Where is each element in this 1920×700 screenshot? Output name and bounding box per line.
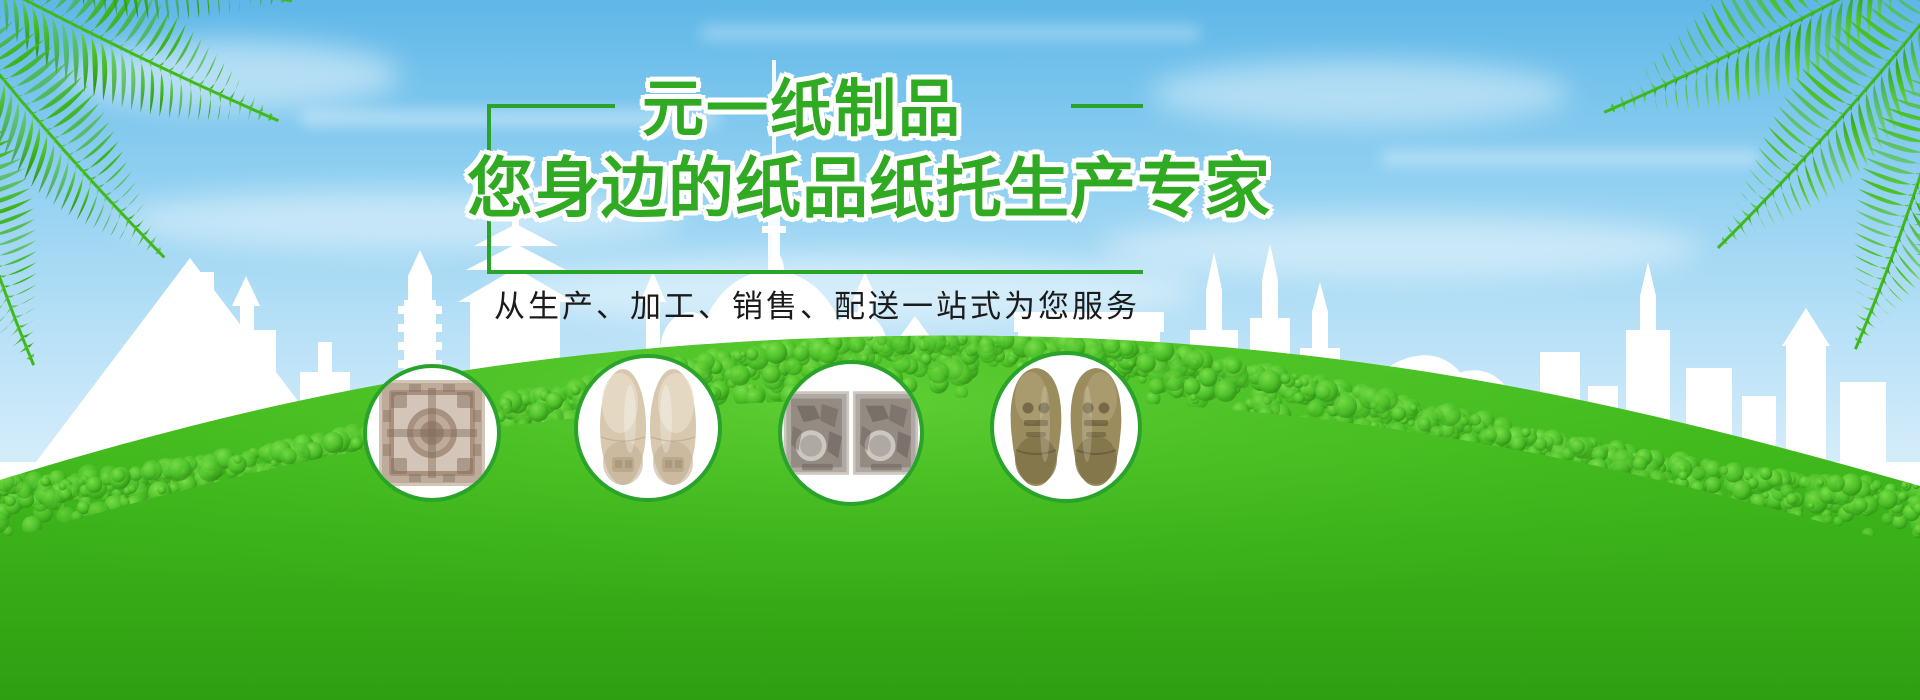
product-circle-square-tray[interactable]: [363, 364, 501, 502]
product-circle-double-cavity-tray[interactable]: [778, 360, 924, 506]
promotional-banner: 元一纸制品 您身边的纸品纸托生产专家 从生产、加工、销售、配送一站式为您服务: [0, 0, 1920, 700]
palm-frond-right: [1480, 0, 1920, 420]
frame-border-top-right: [1071, 104, 1143, 108]
frame-border-bottom: [487, 270, 1143, 274]
product-image-shoe-trees: [1004, 364, 1128, 490]
frame-border-top-left: [487, 104, 615, 108]
product-circle-shoe-inserts[interactable]: [574, 354, 722, 502]
tagline: 从生产、加工、销售、配送一站式为您服务: [487, 288, 1147, 326]
headline-line-1: 元一纸制品: [642, 78, 962, 140]
headline-frame: 元一纸制品 您身边的纸品纸托生产专家: [487, 104, 1143, 274]
product-image-square-tray: [379, 380, 485, 486]
product-image-shoe-inserts: [592, 367, 704, 489]
product-circle-shoe-trees[interactable]: [990, 351, 1142, 503]
headline-line-2: 您身边的纸品纸托生产专家: [467, 154, 1271, 224]
product-image-double-cavity-tray: [782, 387, 920, 479]
palm-frond-left: [0, 0, 390, 530]
